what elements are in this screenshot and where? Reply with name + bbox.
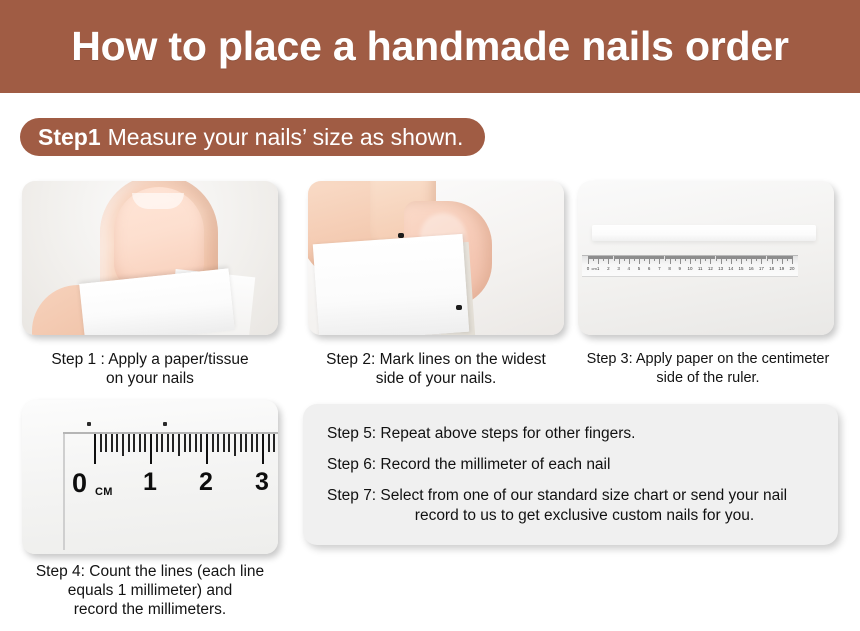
step3-caption: Step 3: Apply paper on the centimeter si…	[566, 350, 850, 388]
paper-mark-dot-left	[87, 422, 91, 426]
thumb-with-paper-strip-photo	[22, 181, 278, 335]
step7-text: Step 7: Select from one of our standard …	[327, 486, 814, 526]
step4-caption: Step 4: Count the lines (each line equal…	[8, 562, 292, 619]
paper-strip-shape	[313, 234, 469, 335]
header-banner: How to place a handmade nails order	[0, 0, 860, 93]
ruler-zero-label: 0	[72, 470, 87, 497]
step3-caption-line2: side of the ruler.	[566, 369, 850, 388]
ruler-millimeter-ticks	[22, 434, 278, 464]
step1-photo-card	[22, 181, 278, 335]
step2-caption-line2: side of your nails.	[296, 369, 576, 388]
step4-caption-line2: equals 1 millimeter) and	[8, 581, 292, 600]
paper-strip-on-ruler-photo: 01234567891011121314151617181920cm	[578, 181, 834, 335]
ruler-tick-marks	[582, 256, 798, 265]
step4-caption-line1: Step 4: Count the lines (each line	[8, 562, 292, 581]
step7-line2: record to us to get exclusive custom nai…	[327, 506, 814, 526]
step2-caption-line1: Step 2: Mark lines on the widest	[296, 350, 576, 369]
steps-5-7-panel: Step 5: Repeat above steps for other fin…	[303, 404, 838, 545]
ruler-label-2: 2	[199, 470, 213, 495]
ruler-number-labels: 01234567891011121314151617181920cm	[582, 266, 798, 278]
step1-badge-text: Measure your nails’ size as shown.	[108, 124, 464, 151]
step4-photo-card: 0 CM 1 2 3	[22, 400, 278, 554]
ruler-unit-label: CM	[95, 486, 113, 498]
step1-badge: Step1 Measure your nails’ size as shown.	[20, 118, 485, 156]
ruler-closeup-photo: 0 CM 1 2 3	[22, 400, 278, 554]
step1-badge-label: Step1	[38, 124, 101, 151]
ruler-label-3: 3	[255, 470, 269, 495]
step2-caption: Step 2: Mark lines on the widest side of…	[296, 350, 576, 388]
step4-caption-line3: record the millimeters.	[8, 600, 292, 619]
paper-mark-dot-right	[163, 422, 167, 426]
paper-strip-shape	[592, 225, 816, 241]
step3-caption-line1: Step 3: Apply paper on the centimeter	[566, 350, 850, 369]
step1-caption-line2: on your nails	[10, 369, 290, 388]
step6-text: Step 6: Record the millimeter of each na…	[327, 455, 814, 475]
step3-photo-card: 01234567891011121314151617181920cm	[578, 181, 834, 335]
fingers-holding-marked-paper-photo	[308, 181, 564, 335]
step1-caption-line1: Step 1 : Apply a paper/tissue	[10, 350, 290, 369]
step1-caption: Step 1 : Apply a paper/tissue on your na…	[10, 350, 290, 388]
step2-photo-card	[308, 181, 564, 335]
pen-mark-lower	[456, 305, 462, 310]
pen-mark-upper	[398, 233, 404, 238]
nail-lunula-shape	[132, 193, 184, 209]
ruler-shape: 01234567891011121314151617181920cm	[582, 255, 798, 277]
ruler-label-1: 1	[143, 470, 157, 495]
step5-text: Step 5: Repeat above steps for other fin…	[327, 424, 814, 444]
step7-line1: Step 7: Select from one of our standard …	[327, 487, 787, 504]
page-title: How to place a handmade nails order	[71, 23, 789, 70]
